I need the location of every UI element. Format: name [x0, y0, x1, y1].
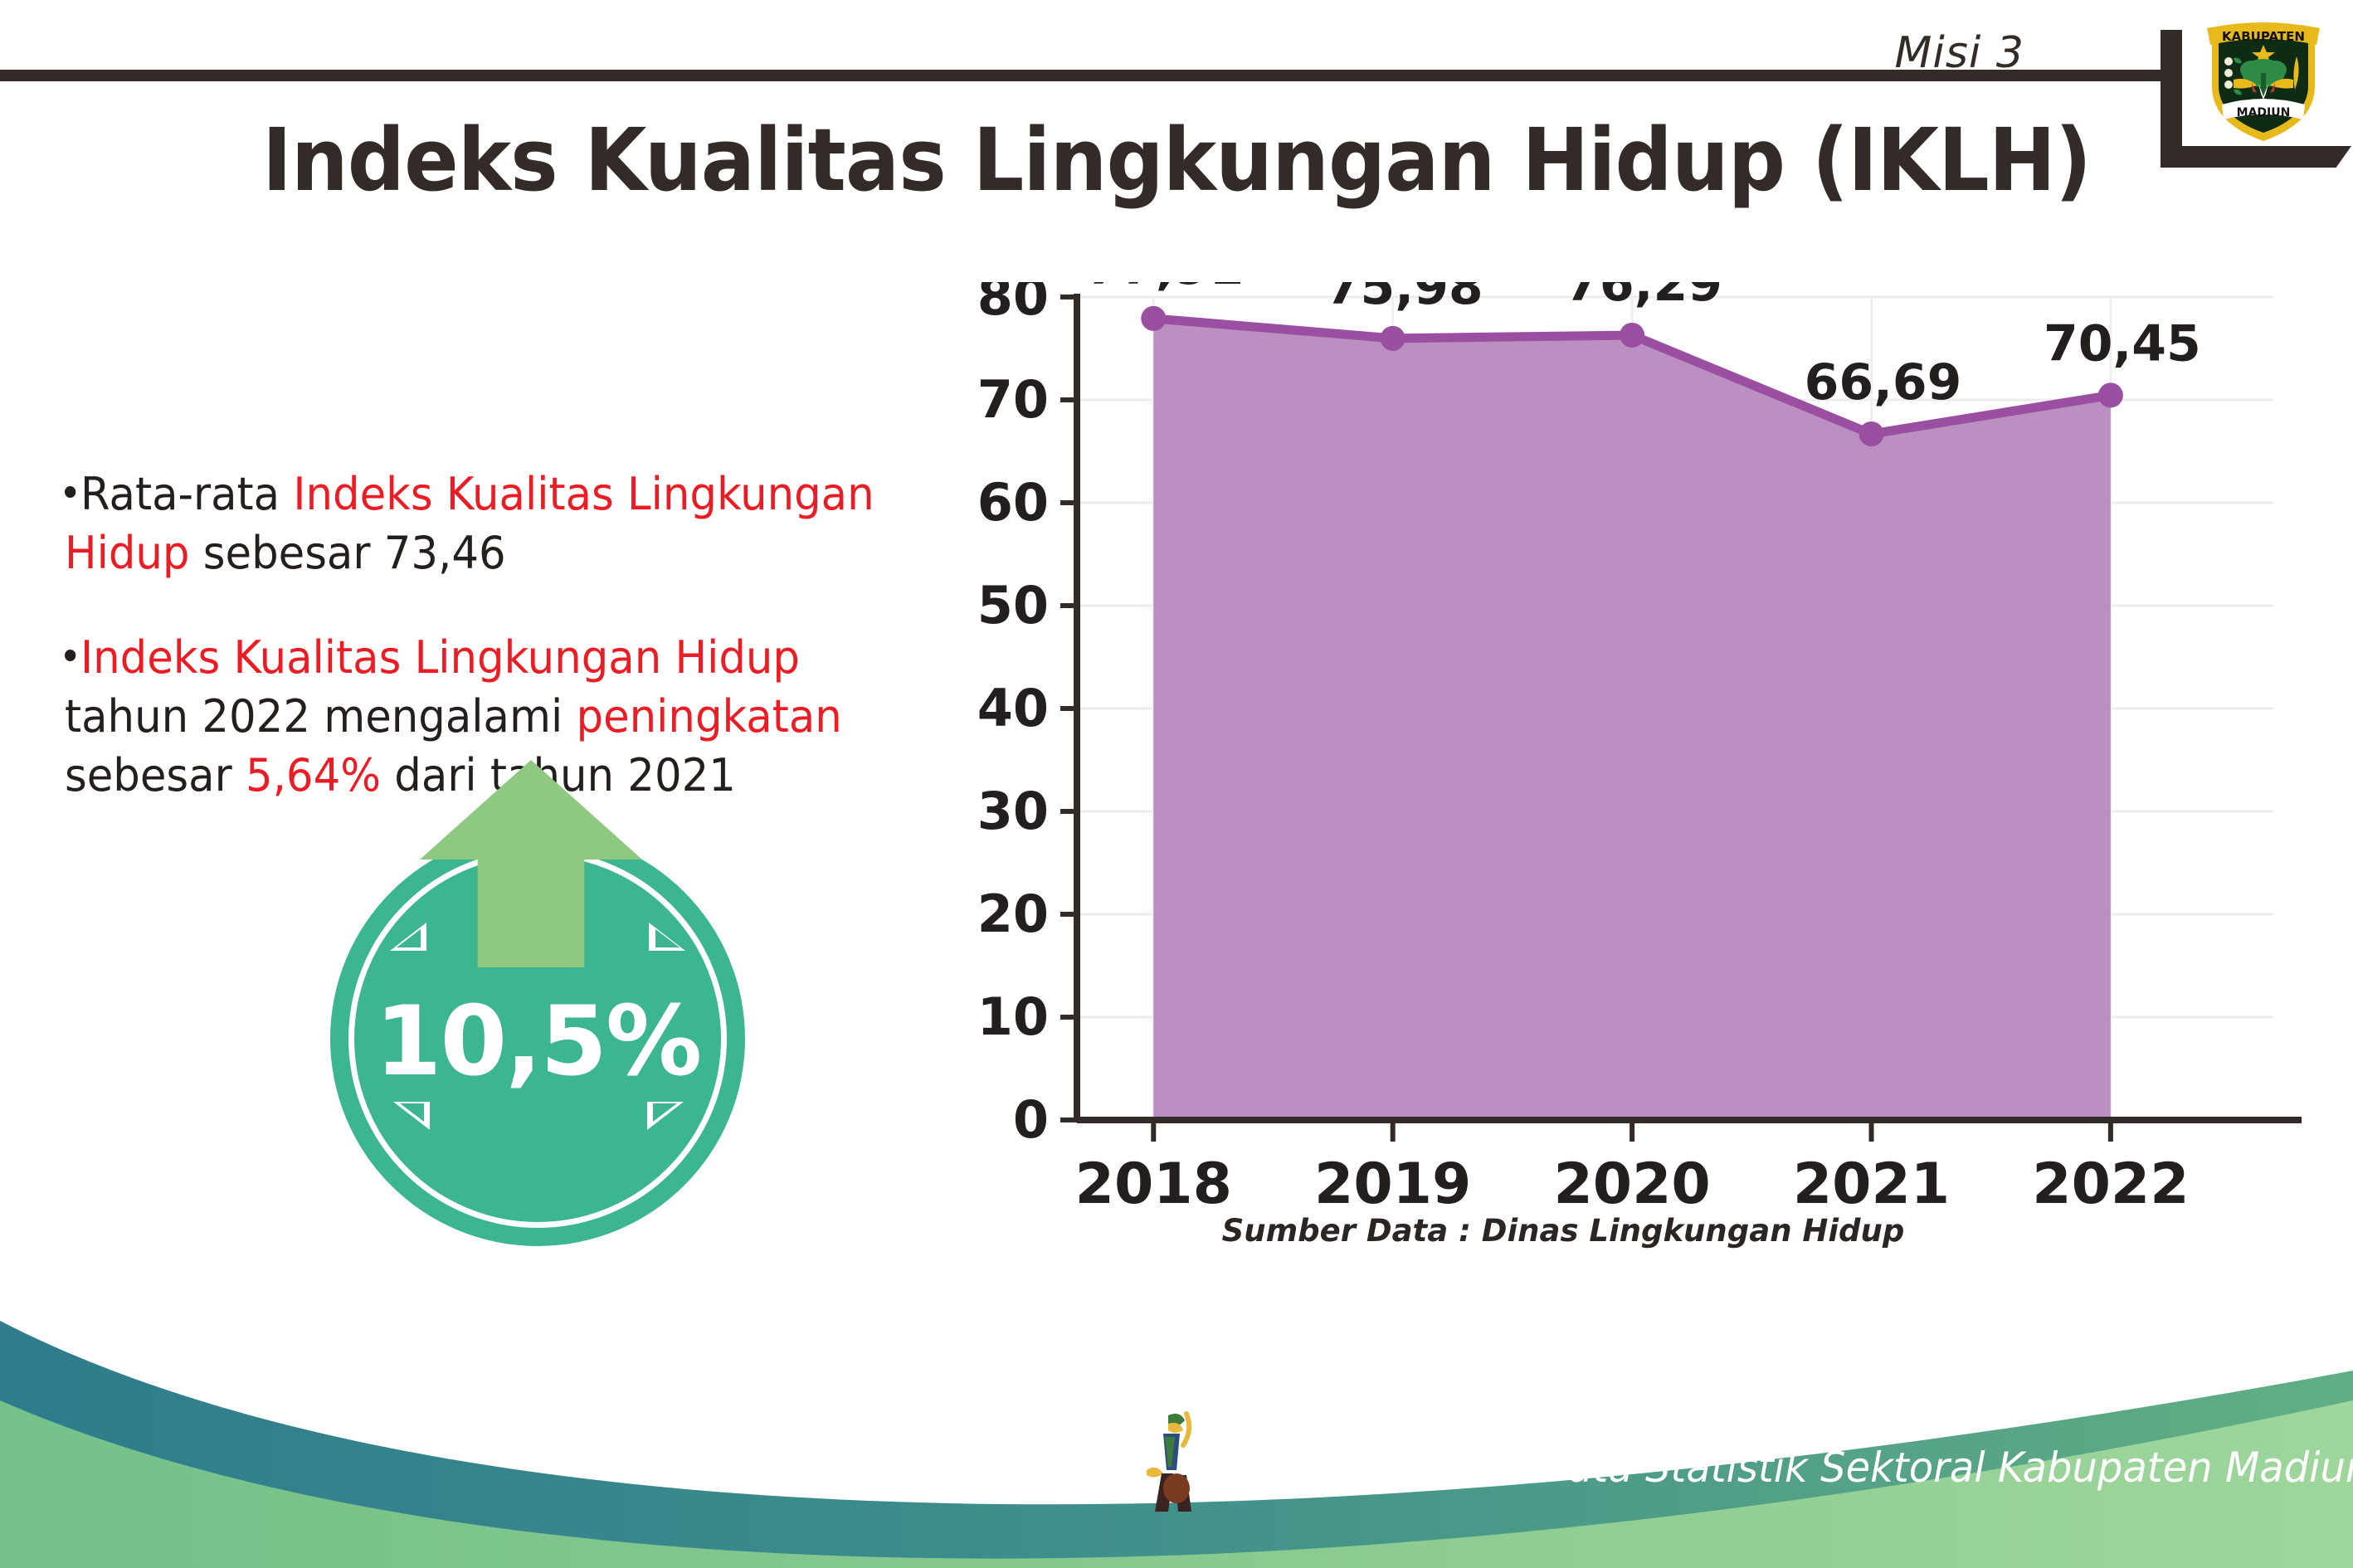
- bullet-item: Rata-rata Indeks Kualitas Lingkungan Hid…: [65, 465, 932, 583]
- x-axis-category-label: 2021: [1793, 1152, 1950, 1217]
- y-axis-tick-label: 60: [979, 472, 1049, 533]
- bullet-text: Rata-rata Indeks Kualitas Lingkungan Hid…: [65, 468, 874, 579]
- media-infografis-logo-icon: [1143, 1409, 1213, 1517]
- badge-tick-bottom-left-mask: [400, 1103, 424, 1122]
- data-label: 77,91: [1086, 282, 1244, 296]
- chart-source-note: Sumber Data : Dinas Lingkungan Hidup: [1065, 1213, 2061, 1249]
- data-label: 70,45: [2044, 314, 2201, 373]
- data-point-marker: [2098, 382, 2123, 407]
- badge-tick-bottom-right-mask: [653, 1103, 677, 1122]
- y-axis-tick-label: 40: [979, 678, 1049, 738]
- crest-top-text: KABUPATEN: [2222, 29, 2305, 44]
- y-axis-tick-label: 50: [979, 575, 1049, 635]
- bullet-marker: [65, 650, 76, 661]
- infographic-slide: Misi 3 KABUPATEN MADIUN Indeks Kualitas …: [0, 0, 2353, 1568]
- y-axis-tick-label: 0: [1013, 1089, 1049, 1150]
- badge-tick-top-left-mask: [397, 929, 421, 947]
- x-axis-category-label: 2020: [1553, 1152, 1710, 1217]
- y-axis-tick-label: 10: [979, 986, 1049, 1047]
- y-axis-tick-label: 80: [979, 282, 1049, 327]
- data-point-marker: [1620, 323, 1644, 348]
- x-axis-category-label: 2019: [1314, 1152, 1471, 1217]
- page-title: Indeks Kualitas Lingkungan Hidup (IKLH): [82, 110, 2270, 211]
- data-point-marker: [1141, 306, 1166, 331]
- y-axis-tick-label: 20: [979, 884, 1049, 944]
- data-label: 76,29: [1565, 282, 1722, 313]
- x-axis-category-label: 2022: [2032, 1152, 2189, 1217]
- footer-band: Media Infografis Data Statistik Sektoral…: [0, 1294, 2353, 1568]
- highlight-text: peningkatan: [577, 690, 842, 743]
- increase-badge: 10,5%: [330, 760, 745, 1175]
- y-axis-tick-label: 70: [979, 369, 1049, 430]
- data-point-marker: [1859, 421, 1883, 446]
- data-label: 66,69: [1805, 353, 1962, 411]
- mission-label: Misi 3: [1895, 28, 2024, 78]
- data-label: 75,98: [1326, 282, 1483, 316]
- badge-value: 10,5%: [330, 986, 745, 1098]
- bullet-marker: [65, 486, 76, 498]
- area-fill: [1153, 319, 2111, 1120]
- plain-text: sebesar 73,46: [189, 527, 505, 579]
- plain-text: Rata-rata: [80, 468, 293, 520]
- header-divider: [0, 70, 2161, 81]
- footer-text: Media Infografis Data Statistik Sektoral…: [1205, 1444, 2353, 1492]
- badge-tick-top-right-mask: [655, 929, 680, 947]
- chart-canvas: 77,9175,9876,2966,6970,45010203040506070…: [979, 282, 2323, 1220]
- highlight-text: Indeks Kualitas Lingkungan Hidup: [80, 631, 800, 684]
- y-axis-tick-label: 30: [979, 781, 1049, 841]
- iklh-area-chart: 77,9175,9876,2966,6970,45010203040506070…: [979, 282, 2323, 1303]
- plain-text: sebesar: [65, 749, 246, 801]
- x-axis-category-label: 2018: [1075, 1152, 1232, 1217]
- data-point-marker: [1381, 326, 1405, 351]
- plain-text: tahun 2022 mengalami: [65, 690, 577, 743]
